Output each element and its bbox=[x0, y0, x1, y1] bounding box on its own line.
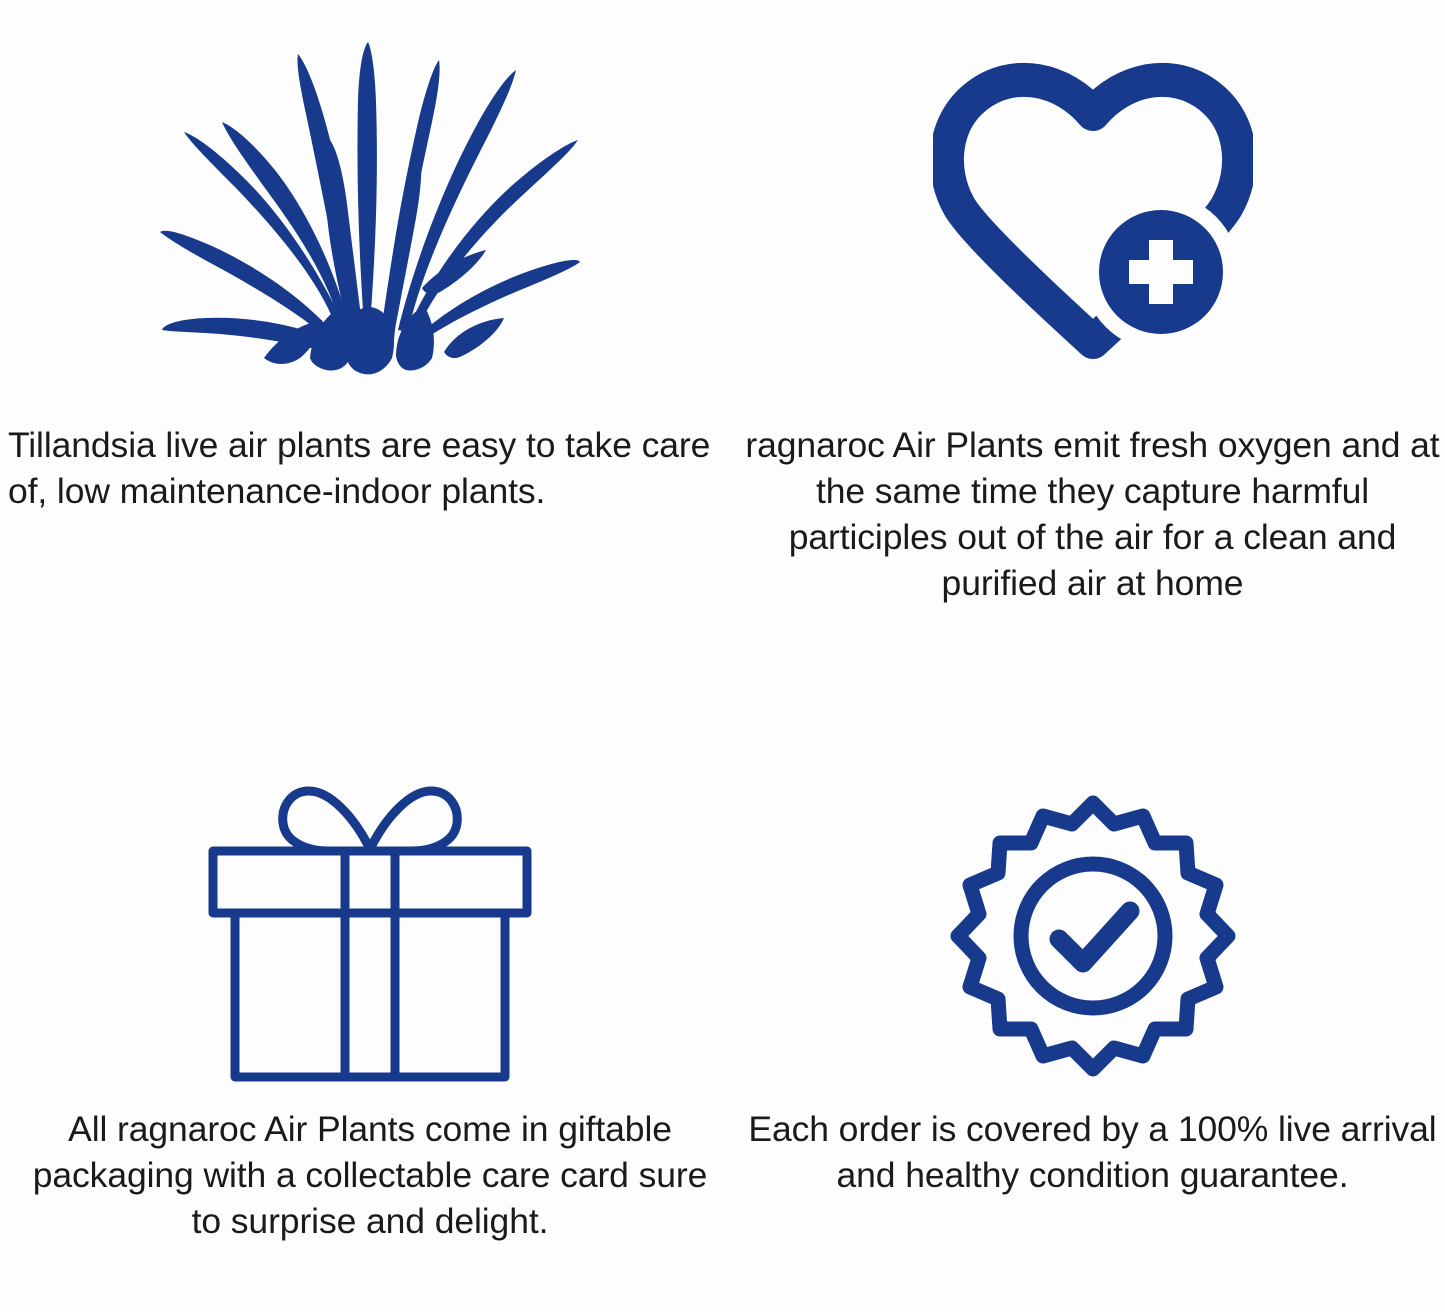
feature-caption: Tillandsia live air plants are easy to t… bbox=[0, 422, 740, 514]
guarantee-badge-icon-wrap bbox=[740, 656, 1445, 1106]
feature-card-guarantee: Each order is covered by a 100% live arr… bbox=[740, 656, 1445, 1312]
feature-card-packaging: All ragnaroc Air Plants come in giftable… bbox=[0, 656, 740, 1312]
air-plant-icon bbox=[160, 40, 580, 380]
feature-caption: Each order is covered by a 100% live arr… bbox=[740, 1106, 1445, 1198]
feature-caption: ragnaroc Air Plants emit fresh oxygen an… bbox=[740, 422, 1445, 607]
heart-plus-icon bbox=[933, 60, 1253, 360]
gift-box-icon bbox=[205, 773, 535, 1085]
guarantee-badge-check-icon bbox=[948, 793, 1238, 1079]
feature-card-oxygen: ragnaroc Air Plants emit fresh oxygen an… bbox=[740, 0, 1445, 656]
feature-grid: Tillandsia live air plants are easy to t… bbox=[0, 0, 1445, 1312]
feature-card-care: Tillandsia live air plants are easy to t… bbox=[0, 0, 740, 656]
heart-plus-icon-wrap bbox=[740, 0, 1445, 410]
gift-box-icon-wrap bbox=[0, 656, 740, 1106]
feature-caption: All ragnaroc Air Plants come in giftable… bbox=[0, 1106, 740, 1244]
air-plant-icon-wrap bbox=[0, 0, 740, 410]
